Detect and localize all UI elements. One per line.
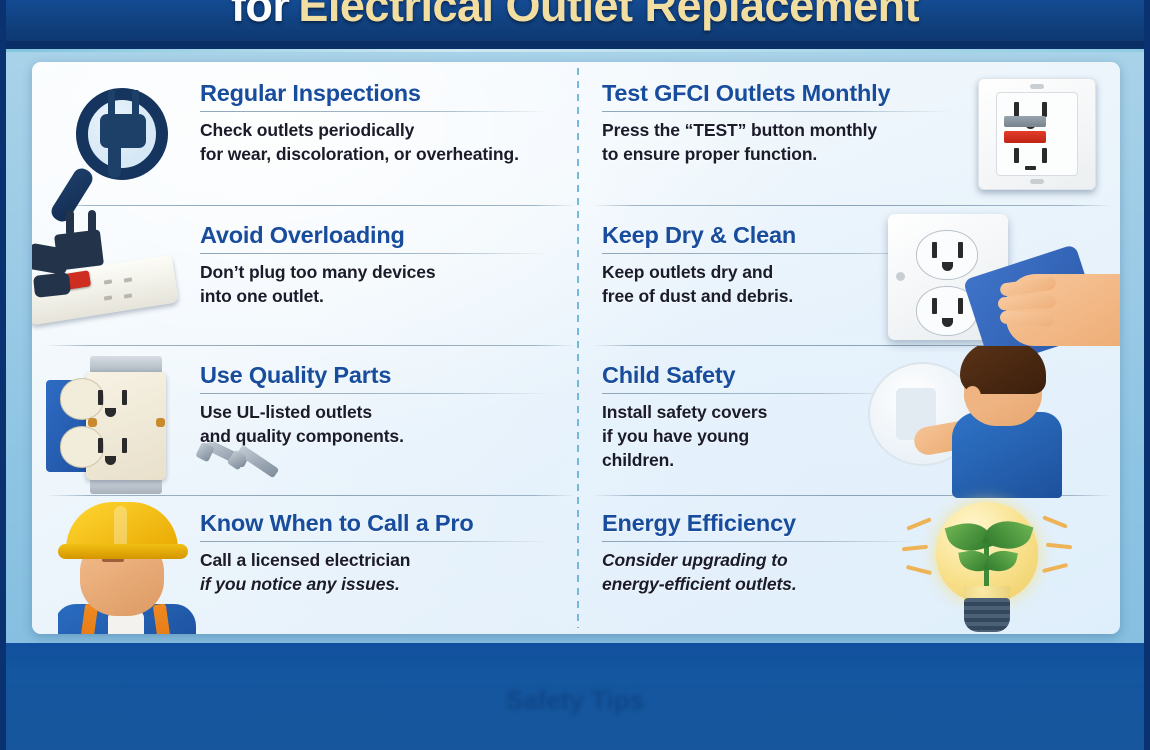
tip-body: Consider upgrading to energy-efficient o… (602, 548, 922, 596)
tip-rule (602, 393, 902, 394)
receptacle-screws-icon (42, 350, 202, 495)
tip-heading: Regular Inspections (200, 80, 550, 107)
tip-card-test-gfci-outlets-monthly[interactable]: Test GFCI Outlets Monthly Press the “TES… (578, 62, 1120, 205)
page-title: forElectrical Outlet Replacement (0, 0, 1150, 38)
tip-body-line: and quality components. (200, 424, 550, 448)
tip-body: Don’t plug too many devices into one out… (200, 260, 550, 308)
title-prefix: for (231, 0, 290, 31)
tip-rule (602, 111, 952, 112)
tip-body-line: children. (602, 448, 902, 472)
tip-body-line: into one outlet. (200, 284, 550, 308)
tip-rule (200, 111, 550, 112)
gfci-outlet-icon (978, 78, 1096, 190)
left-frame-edge (0, 0, 6, 750)
tip-body-line: for wear, discoloration, or overheating. (200, 142, 550, 166)
tip-card-energy-efficiency[interactable]: Energy Efficiency Consider upgrading to … (578, 496, 1120, 634)
tip-body: Press the “TEST” button monthly to ensur… (602, 118, 952, 166)
title-main: Electrical Outlet Replacement (298, 0, 919, 31)
tip-body: Call a licensed electrician if you notic… (200, 548, 550, 596)
tip-card-avoid-overloading[interactable]: Avoid Overloading Don’t plug too many de… (32, 206, 577, 345)
tip-card-know-when-to-call-a-pro[interactable]: Know When to Call a Pro Call a licensed … (32, 496, 577, 634)
footer-ghost-text: Safety Tips (0, 685, 1150, 716)
tip-card-regular-inspections[interactable]: Regular Inspections Check outlets period… (32, 62, 577, 205)
tip-body: Check outlets periodically for wear, dis… (200, 118, 550, 166)
child-outlet-cover-icon (868, 346, 1108, 498)
tip-body-line: Check outlets periodically (200, 118, 550, 142)
tip-card-child-safety[interactable]: Child Safety Install safety covers if yo… (578, 346, 1120, 495)
lightbulb-plant-icon (908, 498, 1088, 634)
tip-rule (200, 541, 550, 542)
tip-body-line: Call a licensed electrician (200, 548, 550, 572)
tip-rule (200, 253, 550, 254)
tip-rule (602, 541, 922, 542)
tip-body-line: to ensure proper function. (602, 142, 952, 166)
tip-rule (200, 393, 550, 394)
tip-body-line: Don’t plug too many devices (200, 260, 550, 284)
hand-cleaning-outlet-icon (888, 214, 1120, 350)
electrician-icon (58, 500, 198, 634)
tip-body-line: Press the “TEST” button monthly (602, 118, 952, 142)
tip-body-line: if you have young (602, 424, 902, 448)
tip-body-line: energy-efficient outlets. (602, 572, 922, 596)
poster-footer: Safety Tips (0, 643, 1150, 750)
infographic-poster: forElectrical Outlet Replacement (0, 0, 1150, 750)
tip-card-keep-dry-and-clean[interactable]: Keep Dry & Clean Keep outlets dry and fr… (578, 206, 1120, 345)
tip-card-use-quality-parts[interactable]: Use Quality Parts Use UL-listed outlets … (32, 346, 577, 495)
tip-body-line: Install safety covers (602, 400, 902, 424)
tip-body-line: Use UL-listed outlets (200, 400, 550, 424)
tip-heading: Child Safety (602, 362, 902, 389)
tip-body: Use UL-listed outlets and quality compon… (200, 400, 550, 448)
tips-grid: Regular Inspections Check outlets period… (32, 62, 1120, 634)
screws-icon (202, 442, 292, 490)
tip-heading: Use Quality Parts (200, 362, 550, 389)
tip-body: Install safety covers if you have young … (602, 400, 902, 472)
tip-heading: Test GFCI Outlets Monthly (602, 80, 952, 107)
tip-body-line: if you notice any issues. (200, 572, 550, 596)
tip-heading: Energy Efficiency (602, 510, 922, 537)
magnifier-plug-icon (56, 74, 216, 199)
poster-header: forElectrical Outlet Replacement (0, 0, 1150, 41)
tips-panel: Regular Inspections Check outlets period… (32, 62, 1120, 634)
poster-body: Regular Inspections Check outlets period… (0, 52, 1150, 643)
tip-heading: Know When to Call a Pro (200, 510, 550, 537)
power-strip-icon (32, 212, 212, 342)
tip-body-line: Consider upgrading to (602, 548, 922, 572)
right-frame-edge (1144, 0, 1150, 750)
header-rule (0, 41, 1150, 49)
tip-heading: Avoid Overloading (200, 222, 550, 249)
